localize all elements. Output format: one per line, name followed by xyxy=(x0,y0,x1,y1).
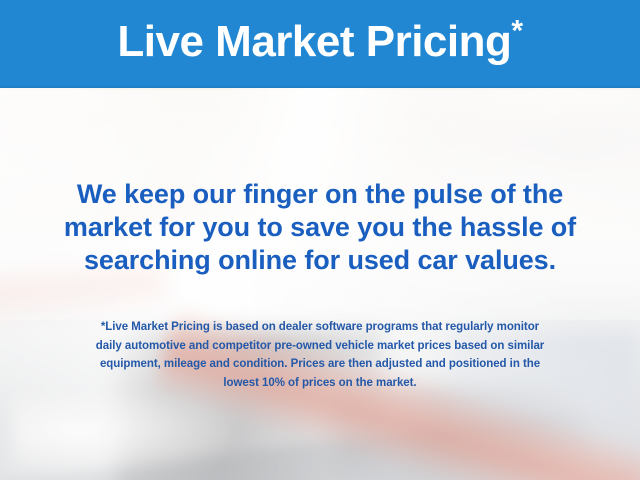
headline-line-3: searching online for used car values. xyxy=(0,244,640,277)
headline-line-1: We keep our finger on the pulse of the xyxy=(0,178,640,211)
headline-copy: We keep our finger on the pulse of the m… xyxy=(0,178,640,277)
disclaimer-line-2: daily automotive and competitor pre-owne… xyxy=(0,337,640,356)
page-title-asterisk: * xyxy=(511,14,522,47)
disclaimer-line-3: equipment, mileage and condition. Prices… xyxy=(0,355,640,374)
disclaimer-line-1: *Live Market Pricing is based on dealer … xyxy=(0,318,640,337)
disclaimer-fine-print: *Live Market Pricing is based on dealer … xyxy=(0,318,640,392)
page-title-text: Live Market Pricing xyxy=(117,17,511,66)
live-market-pricing-graphic: Live Market Pricing* We keep our finger … xyxy=(0,0,640,480)
page-title: Live Market Pricing* xyxy=(117,20,522,66)
headline-line-2: market for you to save you the hassle of xyxy=(0,211,640,244)
header-banner: Live Market Pricing* xyxy=(0,0,640,88)
disclaimer-line-4: lowest 10% of prices on the market. xyxy=(0,374,640,393)
